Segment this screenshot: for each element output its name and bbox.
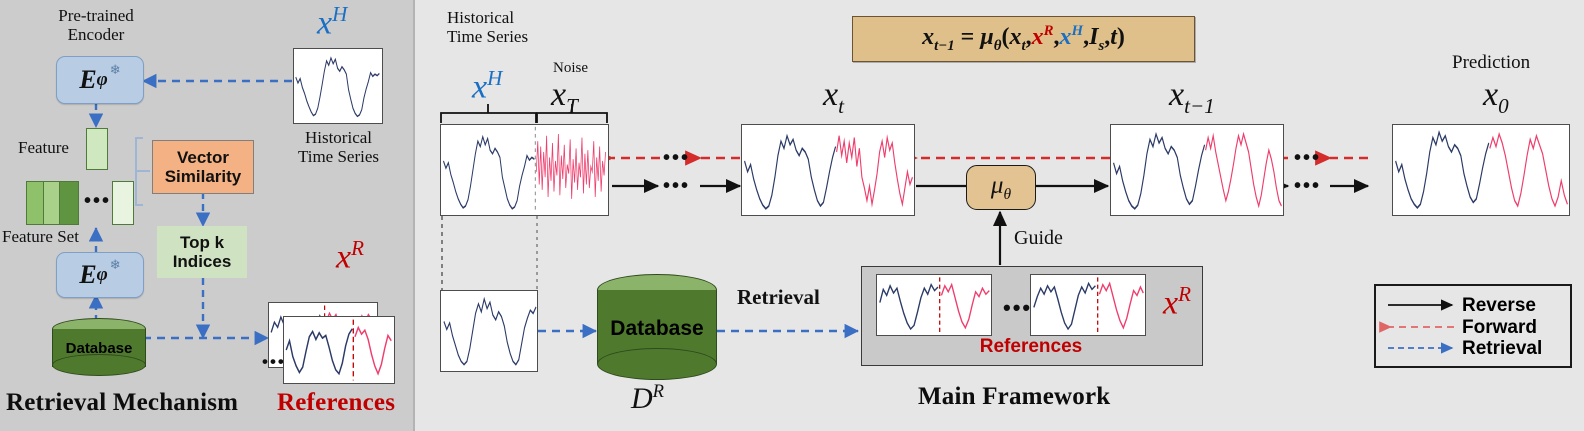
topk-indices-box[interactable]: Top k Indices: [157, 226, 247, 278]
noise-caption: Noise: [553, 60, 588, 77]
references-label-left: References: [277, 389, 395, 417]
references-var-right: xR: [1163, 282, 1191, 322]
noise-var: xT: [551, 76, 578, 119]
database-var-label: DR: [631, 381, 664, 416]
xtm1-label: xt−1: [1169, 76, 1215, 119]
mu-theta-symbol: μθ: [991, 172, 1011, 204]
vector-similarity-line2: Similarity: [165, 167, 242, 186]
encoder-box-top[interactable]: Eφ❄: [56, 56, 144, 104]
main-framework-title: Main Framework: [918, 383, 1110, 411]
eq-mu: μ: [980, 24, 993, 50]
eq-arg2-sup: R: [1044, 23, 1054, 39]
eq-arg3-sup: H: [1072, 23, 1084, 39]
pretrained-encoder-caption: Pre-trained Encoder: [26, 6, 166, 44]
historical-series-label-left: xH: [317, 2, 347, 42]
encoder-top-symbol: E: [79, 65, 96, 95]
eq-close-paren: ): [1117, 24, 1125, 50]
xtm1-sub: t−1: [1184, 94, 1215, 118]
hist-caption-right-2: Time Series: [447, 27, 528, 46]
reverse-ellipsis-2: •••: [1294, 175, 1321, 198]
legend-box: Reverse Forward Retrieval: [1374, 284, 1572, 368]
encoder-bottom-subscript: φ: [97, 264, 108, 286]
x0-chart: [1392, 124, 1570, 216]
xtm1-chart: [1110, 124, 1284, 216]
forward-ellipsis-1: •••: [663, 147, 690, 170]
db-sup: R: [653, 381, 664, 402]
legend-label-reverse: Reverse: [1462, 295, 1536, 317]
feature-set-bar-last: [112, 181, 134, 225]
database-bottom-ellipse-right: [597, 348, 717, 380]
snowflake-frozen-icon-bottom: ❄: [110, 257, 121, 273]
prediction-caption: Prediction: [1452, 52, 1530, 73]
hist-var-right: xH: [472, 66, 502, 106]
eq-equals: =: [961, 24, 975, 50]
xT-chart: [440, 124, 609, 216]
feature-set-bar-3: [59, 181, 79, 225]
mu-sub: θ: [1003, 186, 1011, 203]
forward-ellipsis-2: •••: [1294, 147, 1321, 170]
db-var: D: [631, 382, 653, 415]
pretrained-encoder-caption-line1: Pre-trained: [26, 6, 166, 25]
eq-lhs-sub: t−1: [934, 38, 955, 54]
eq-arg5: t: [1110, 24, 1117, 50]
feature-set-ellipsis: •••: [84, 190, 111, 213]
historical-series-caption-left: Historical Time Series: [281, 128, 396, 166]
database-cylinder-right[interactable]: Database: [597, 274, 717, 380]
xtm1-var: x: [1169, 76, 1184, 113]
encoder-top-subscript: φ: [97, 69, 108, 91]
feature-set-label: Feature Set: [2, 227, 79, 246]
refs-var-right: x: [1163, 284, 1178, 321]
noise-var-sub: T: [566, 94, 578, 118]
hist-caption-left-2: Time Series: [281, 147, 396, 166]
retrieval-label: Retrieval: [737, 286, 820, 310]
hist-var-right-base: x: [472, 68, 487, 105]
xt-var: x: [823, 76, 838, 113]
topk-line1: Top k: [173, 233, 232, 252]
eq-arg1: x: [1009, 24, 1021, 50]
reference-chart-front-left: [283, 316, 395, 384]
eq-arg3: x: [1060, 24, 1072, 50]
hist-caption-right-1: Historical: [447, 8, 528, 27]
database-bottom-ellipse-left: [52, 354, 146, 376]
noise-var-base: x: [551, 76, 566, 113]
mu-base: μ: [991, 172, 1004, 199]
refs-var-left: x: [336, 238, 351, 275]
historical-small-chart: [440, 290, 538, 372]
hist-sup-left: H: [332, 2, 347, 26]
historical-series-chart-left: [293, 48, 383, 124]
reference-chart-1: [876, 274, 992, 336]
feature-bar: [86, 128, 108, 170]
vector-similarity-box[interactable]: Vector Similarity: [152, 140, 254, 194]
database-cylinder-left[interactable]: Database: [52, 318, 146, 376]
feature-label: Feature: [18, 138, 69, 157]
diagram-root: Pre-trained Encoder Eφ❄ xH Historical Ti…: [0, 0, 1584, 431]
x0-label: x0: [1483, 76, 1509, 119]
xt-chart: [741, 124, 915, 216]
encoder-bottom-symbol: E: [79, 260, 96, 290]
x0-sub: 0: [1498, 94, 1509, 118]
mu-theta-box[interactable]: μθ: [966, 165, 1036, 210]
eq-arg2: x: [1032, 24, 1044, 50]
references-ellipsis-right: •••: [1003, 295, 1032, 321]
x0-var: x: [1483, 76, 1498, 113]
hist-var-right-sup: H: [487, 66, 502, 90]
equation-box: xt−1 = μθ(xt,xR,xH,Is,t): [852, 16, 1195, 62]
encoder-box-bottom[interactable]: Eφ❄: [56, 252, 144, 298]
xt-sub: t: [838, 94, 844, 118]
retrieval-mechanism-title: Retrieval Mechanism: [6, 389, 238, 417]
hist-var-left: x: [317, 4, 332, 41]
eq-lhs-var: x: [922, 24, 934, 50]
references-var-left: xR: [336, 236, 364, 276]
guide-label: Guide: [1014, 227, 1063, 249]
pretrained-encoder-caption-line2: Encoder: [26, 25, 166, 44]
snowflake-frozen-icon: ❄: [110, 62, 121, 78]
vector-similarity-line1: Vector: [165, 148, 242, 167]
refs-sup-left: R: [351, 236, 364, 260]
historical-caption-right: Historical Time Series: [447, 8, 528, 46]
reverse-ellipsis-1: •••: [663, 175, 690, 198]
panel-divider: [413, 0, 415, 431]
refs-sup-right: R: [1178, 282, 1191, 306]
legend-label-forward: Forward: [1462, 317, 1537, 339]
reference-chart-2: [1030, 274, 1146, 336]
topk-line2: Indices: [173, 252, 232, 271]
references-label-right: References: [861, 336, 1201, 358]
database-label-right: Database: [597, 317, 717, 341]
xt-label: xt: [823, 76, 844, 119]
hist-caption-left-1: Historical: [281, 128, 396, 147]
database-label-left: Database: [52, 340, 146, 357]
legend-label-retrieval: Retrieval: [1462, 338, 1542, 360]
